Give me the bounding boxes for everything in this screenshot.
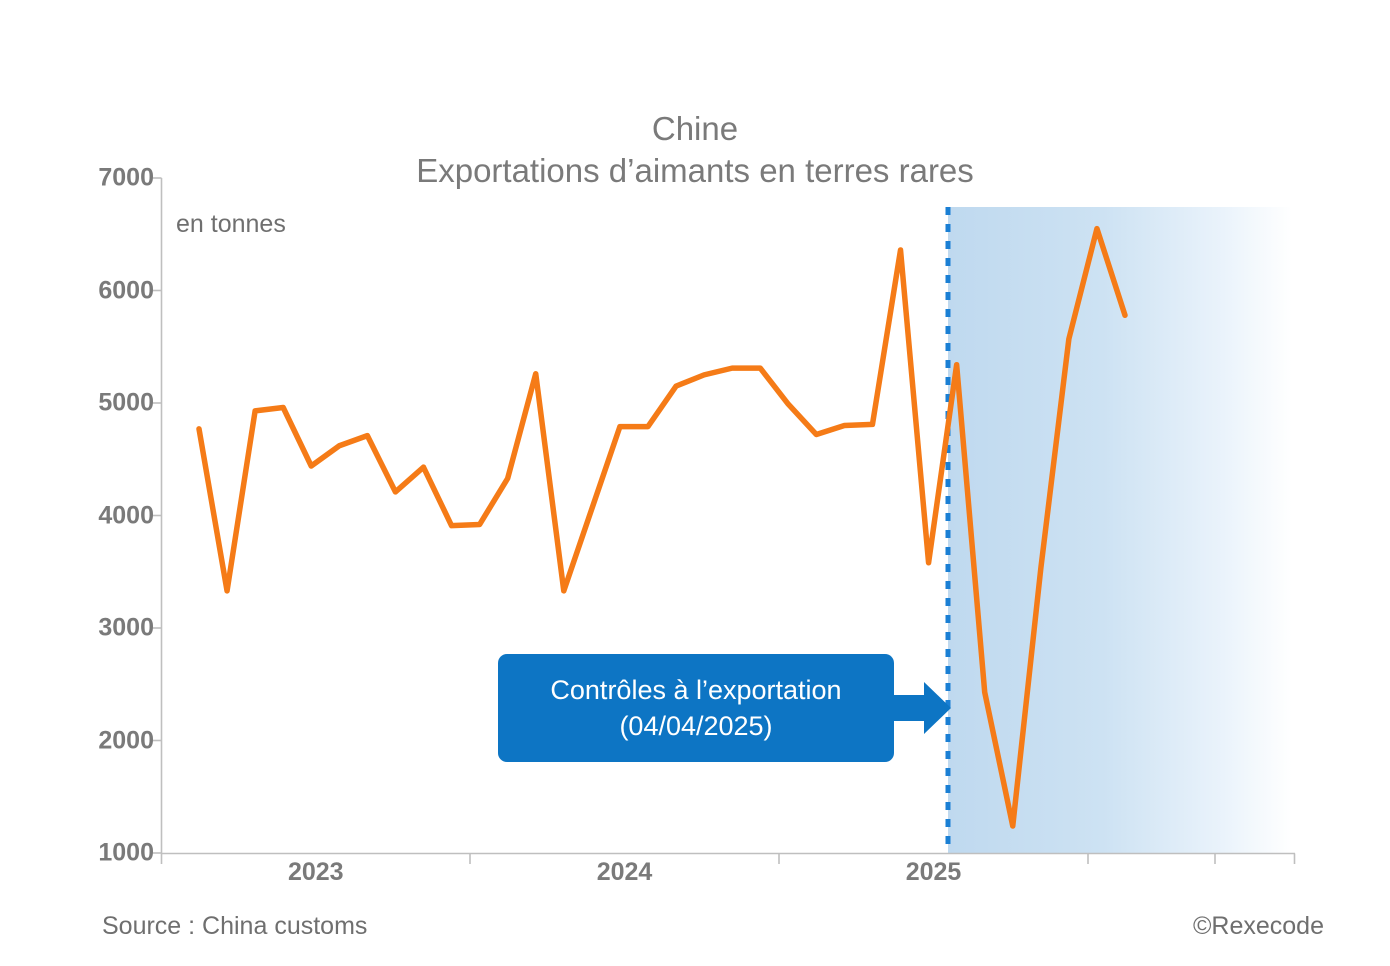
y-axis-tick-label: 3000 (98, 614, 154, 643)
chart-figure: Chine Exportations d’aimants en terres r… (0, 0, 1390, 966)
x-axis-tick-label: 2023 (288, 858, 344, 887)
y-axis-labels: 7000600050004000300020001000 (72, 0, 154, 966)
source-note: Source : China customs (102, 912, 367, 941)
annotation-line-1: Contrôles à l’exportation (550, 672, 841, 708)
y-axis-tick-label: 7000 (98, 164, 154, 193)
y-axis-tick-label: 4000 (98, 501, 154, 530)
y-axis-tick-label: 5000 (98, 389, 154, 418)
annotation-arrow-icon (894, 682, 951, 734)
y-axis-tick-label: 1000 (98, 839, 154, 868)
y-axis-tick-label: 6000 (98, 276, 154, 305)
annotation-line-2: (04/04/2025) (619, 708, 772, 744)
x-axis-tick-label: 2024 (597, 858, 653, 887)
export-control-annotation: Contrôles à l’exportation (04/04/2025) (498, 654, 894, 762)
unit-label: en tonnes (176, 210, 286, 239)
copyright-note: ©Rexecode (1193, 912, 1324, 941)
y-axis-ticks (153, 178, 162, 853)
chart-plot-area (0, 0, 1390, 966)
y-axis-tick-label: 2000 (98, 726, 154, 755)
x-axis-tick-label: 2025 (906, 858, 962, 887)
